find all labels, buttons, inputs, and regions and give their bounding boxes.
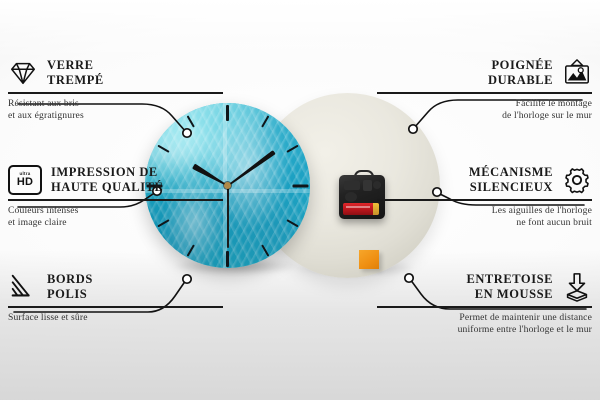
battery (343, 203, 379, 215)
callout-desc-line2: uniforme entre l'horloge et le mur (377, 324, 592, 337)
callout-title: BORDS POLIS (47, 272, 93, 302)
callout-description: Résistant aux bris et aux égratignures (8, 98, 223, 123)
callout-divider (377, 306, 592, 308)
callout-header: BORDS POLIS (8, 272, 223, 302)
callout-title-line2: DURABLE (488, 73, 553, 88)
callout-description: Surface lisse et sûre (8, 312, 223, 325)
callout-title: VERRE TREMPÉ (47, 58, 104, 88)
mechanism-detail (345, 192, 357, 202)
callout-divider (8, 199, 223, 201)
callout-desc-line1: Surface lisse et sûre (8, 312, 223, 325)
picture-hanger-icon (562, 58, 592, 88)
mechanism-detail (344, 181, 360, 190)
callout-header: VERRE TREMPÉ (8, 58, 223, 88)
foam-spacer (359, 250, 379, 269)
ultra-hd-icon: ultra HD (8, 165, 42, 195)
callout-title-line2: SILENCIEUX (469, 180, 553, 195)
callout-title-line1: ENTRETOISE (466, 272, 553, 287)
callout-desc-line1: Couleurs intenses (8, 205, 223, 218)
callout-header: ultra HD IMPRESSION DE HAUTE QUALITÉ (8, 165, 223, 195)
callout-title-line1: VERRE (47, 58, 104, 73)
callout-divider (377, 199, 592, 201)
callout-mecanisme-silencieux: MÉCANISME SILENCIEUX Les aiguilles de l'… (377, 165, 592, 230)
callout-desc-line1: Permet de maintenir une distance (377, 312, 592, 325)
foam-spacer-icon (562, 272, 592, 302)
callout-desc-line2: de l'horloge sur le mur (377, 110, 592, 123)
background-top-fade (0, 0, 600, 60)
callout-title-line2: POLIS (47, 287, 93, 302)
callout-title: ENTRETOISE EN MOUSSE (466, 272, 553, 302)
callout-divider (8, 92, 223, 94)
callout-title: IMPRESSION DE HAUTE QUALITÉ (51, 165, 163, 195)
callout-title: MÉCANISME SILENCIEUX (469, 165, 553, 195)
callout-title-line2: TREMPÉ (47, 73, 104, 88)
callout-desc-line2: ne font aucun bruit (377, 217, 592, 230)
callout-header: ENTRETOISE EN MOUSSE (377, 272, 592, 302)
callout-verre-trempe: VERRE TREMPÉ Résistant aux bris et aux é… (8, 58, 223, 123)
callout-description: Facilite le montage de l'horloge sur le … (377, 98, 592, 123)
polished-edges-icon (8, 272, 38, 302)
callout-title-line2: HAUTE QUALITÉ (51, 180, 163, 195)
callout-entretoise-en-mousse: ENTRETOISE EN MOUSSE Permet de maintenir… (377, 272, 592, 337)
diamond-icon (8, 58, 38, 88)
ultra-hd-icon-main-text: HD (17, 177, 33, 188)
callout-title-line1: BORDS (47, 272, 93, 287)
infographic-canvas: VERRE TREMPÉ Résistant aux bris et aux é… (0, 0, 600, 400)
callout-desc-line2: et aux égratignures (8, 110, 223, 123)
callout-desc-line1: Facilite le montage (377, 98, 592, 111)
callout-poignee-durable: POIGNÉE DURABLE Facilite le montage de l… (377, 58, 592, 123)
gear-icon (562, 165, 592, 195)
callout-desc-line1: Résistant aux bris (8, 98, 223, 111)
callout-title-line1: MÉCANISME (469, 165, 553, 180)
callout-description: Permet de maintenir une distance uniform… (377, 312, 592, 337)
callout-title: POIGNÉE DURABLE (488, 58, 553, 88)
callout-description: Couleurs intenses et image claire (8, 205, 223, 230)
callout-description: Les aiguilles de l'horloge ne font aucun… (377, 205, 592, 230)
callout-header: MÉCANISME SILENCIEUX (377, 165, 592, 195)
callout-desc-line1: Les aiguilles de l'horloge (377, 205, 592, 218)
battery-label-stripe (346, 206, 370, 208)
callout-bords-polis: BORDS POLIS Surface lisse et sûre (8, 272, 223, 324)
callout-title-line1: POIGNÉE (488, 58, 553, 73)
callout-header: POIGNÉE DURABLE (377, 58, 592, 88)
callout-title-line2: EN MOUSSE (466, 287, 553, 302)
callout-divider (8, 306, 223, 308)
callout-impression-haute-qualite: ultra HD IMPRESSION DE HAUTE QUALITÉ Cou… (8, 165, 223, 230)
clock-hand-cap (224, 182, 231, 189)
clock-second-hand (227, 186, 229, 248)
mechanism-detail (363, 180, 372, 191)
callout-title-line1: IMPRESSION DE (51, 165, 163, 180)
callout-desc-line2: et image claire (8, 217, 223, 230)
callout-divider (377, 92, 592, 94)
